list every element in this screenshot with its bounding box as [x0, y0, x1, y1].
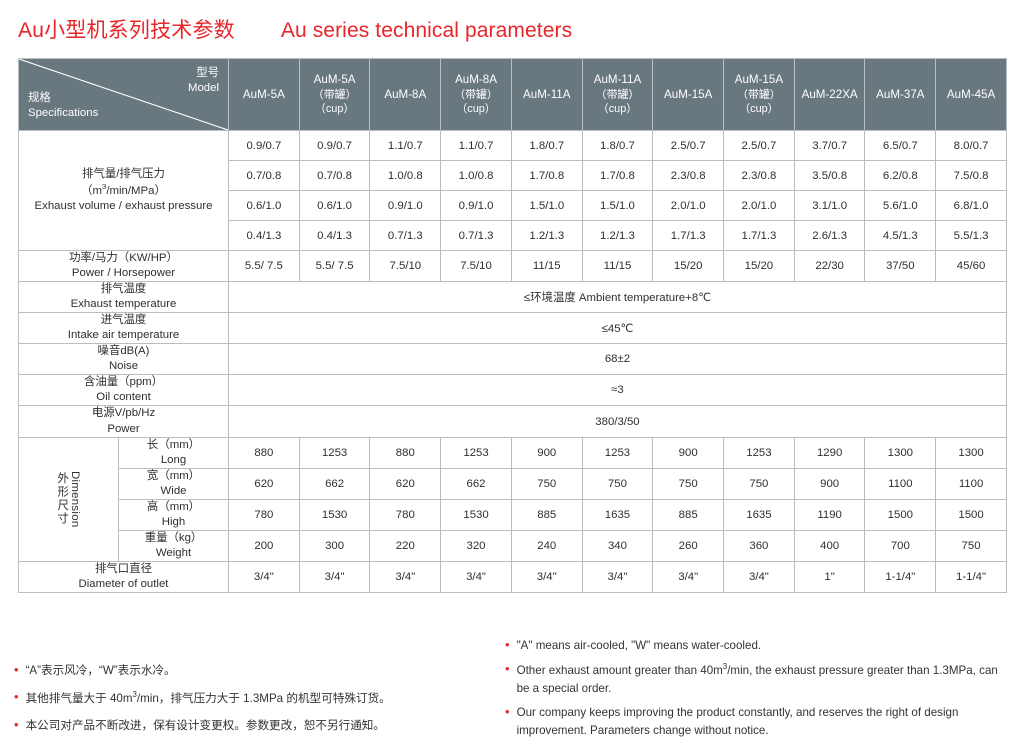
value-noise: 68±2 — [229, 344, 1007, 375]
header-model-label: 型号 Model — [188, 66, 219, 96]
dimension-long-cell: 1253 — [724, 437, 795, 468]
model-sub-cn: （带罐） — [724, 88, 794, 103]
exhaust-r4-cell: 4.5/1.3 — [865, 221, 936, 251]
exhaust-r1-cell: 3.7/0.7 — [794, 131, 865, 161]
dimension-long-cell: 900 — [653, 437, 724, 468]
power-cell: 5.5/ 7.5 — [299, 251, 370, 282]
dimension-weight-cell: 340 — [582, 530, 653, 561]
value-exhaust-temperature: ≤环境温度 Ambient temperature+8℃ — [229, 282, 1007, 313]
dimension-wide-cell: 900 — [794, 468, 865, 499]
model-sub-en: （cup） — [300, 102, 370, 117]
power-cell: 7.5/10 — [441, 251, 512, 282]
exhaust-r1-cell: 8.0/0.7 — [936, 131, 1007, 161]
exhaust-r2-cell: 1.7/0.8 — [582, 161, 653, 191]
header-model-aum-22xa: AuM-22XA — [794, 59, 865, 131]
table-row: 排气量/排气压力（m3/min/MPa）Exhaust volume / exh… — [19, 131, 1007, 161]
dimension-wide-cell: 750 — [511, 468, 582, 499]
outlet-cell: 3/4" — [582, 561, 653, 592]
exhaust-r2-cell: 0.7/0.8 — [229, 161, 300, 191]
model-name: AuM-8A — [441, 72, 511, 88]
exhaust-r2-cell: 0.7/0.8 — [299, 161, 370, 191]
footnote-cn-text: “A”表示风冷，“W”表示水冷。 — [26, 662, 494, 680]
outlet-cell: 1-1/4" — [936, 561, 1007, 592]
sub-label-en: High — [119, 515, 228, 530]
row-label-cn: 含油量（ppm） — [19, 375, 228, 390]
footnotes-chinese: •“A”表示风冷，“W”表示水冷。•其他排气量大于 40m3/min，排气压力大… — [14, 662, 494, 744]
exhaust-r4-cell: 0.7/1.3 — [370, 221, 441, 251]
sub-label-cn: 长（mm） — [119, 438, 228, 453]
exhaust-r3-cell: 0.9/1.0 — [441, 191, 512, 221]
dimension-high-cell: 780 — [370, 499, 441, 530]
row-label-oil-content: 含油量（ppm）Oil content — [19, 375, 229, 406]
value-oil-content: ≈3 — [229, 375, 1007, 406]
row-label-cn: 电源V/pb/Hz — [19, 406, 228, 421]
header-model-aum-37a: AuM-37A — [865, 59, 936, 131]
exhaust-r4-cell: 0.4/1.3 — [229, 221, 300, 251]
dimension-weight-cell: 260 — [653, 530, 724, 561]
table-row: 外形尺寸Dimension长（mm）Long880125388012539001… — [19, 437, 1007, 468]
power-cell: 11/15 — [582, 251, 653, 282]
footnote-cn-text: 其他排气量大于 40m3/min，排气压力大于 1.3MPa 的机型可特殊订货。 — [26, 689, 494, 708]
header-model-aum-11a: AuM-11A — [511, 59, 582, 131]
dimension-high-cell: 1635 — [724, 499, 795, 530]
bullet-icon: • — [505, 662, 510, 677]
exhaust-r2-cell: 7.5/0.8 — [936, 161, 1007, 191]
dimension-long-cell: 880 — [370, 437, 441, 468]
outlet-cell: 3/4" — [370, 561, 441, 592]
exhaust-r1-cell: 1.1/0.7 — [370, 131, 441, 161]
dimension-wide-cell: 662 — [299, 468, 370, 499]
model-name: AuM-11A — [512, 87, 582, 103]
dimension-long-cell: 900 — [511, 437, 582, 468]
header-model-cn: 型号 — [188, 66, 219, 81]
exhaust-r3-cell: 1.5/1.0 — [511, 191, 582, 221]
outlet-cell: 1" — [794, 561, 865, 592]
footnotes-english: •"A" means air-cooled, "W" means water-c… — [505, 637, 1010, 746]
dimension-long-cell: 880 — [229, 437, 300, 468]
power-cell: 22/30 — [794, 251, 865, 282]
table-row: 电源V/pb/HzPower380/3/50 — [19, 406, 1007, 437]
sub-label-en: Long — [119, 453, 228, 468]
exhaust-r2-cell: 3.5/0.8 — [794, 161, 865, 191]
row-label-cn: 功率/马力（KW/HP） — [19, 251, 228, 266]
outlet-cell: 3/4" — [441, 561, 512, 592]
row-label-en: Exhaust temperature — [19, 297, 228, 312]
power-cell: 5.5/ 7.5 — [229, 251, 300, 282]
dimension-high-cell: 1500 — [865, 499, 936, 530]
model-sub-en: （cup） — [724, 102, 794, 117]
dimension-long-cell: 1300 — [865, 437, 936, 468]
row-label-exhaust-temperature: 排气温度Exhaust temperature — [19, 282, 229, 313]
outlet-cell: 3/4" — [511, 561, 582, 592]
model-name: AuM-15A — [724, 72, 794, 88]
power-cell: 45/60 — [936, 251, 1007, 282]
dimension-high-cell: 1635 — [582, 499, 653, 530]
row-label-en: Power / Horsepower — [19, 266, 228, 281]
header-model-aum-5a: AuM-5A — [229, 59, 300, 131]
power-cell: 15/20 — [653, 251, 724, 282]
row-label-unit: （m3/min/MPa） — [19, 182, 228, 199]
spec-table-wrap: 规格 Specifications 型号 Model AuM-5AAuM-5A（… — [18, 58, 1006, 593]
exhaust-r1-cell: 1.1/0.7 — [441, 131, 512, 161]
exhaust-r4-cell: 1.2/1.3 — [511, 221, 582, 251]
exhaust-r3-cell: 0.6/1.0 — [229, 191, 300, 221]
footnote-cn-item: •“A”表示风冷，“W”表示水冷。 — [14, 662, 494, 680]
dimension-wide-cell: 750 — [582, 468, 653, 499]
page-title-cn: Au小型机系列技术参数 — [18, 14, 235, 44]
table-row: 重量（kg）Weight2003002203202403402603604007… — [19, 530, 1007, 561]
outlet-cell: 3/4" — [653, 561, 724, 592]
model-name: AuM-11A — [583, 72, 653, 88]
row-label-en: Oil content — [19, 390, 228, 405]
model-sub-cn: （带罐） — [441, 88, 511, 103]
sub-label-en: Wide — [119, 484, 228, 499]
table-row: 宽（mm）Wide6206626206627507507507509001100… — [19, 468, 1007, 499]
table-row: 排气口直径Diameter of outlet3/4"3/4"3/4"3/4"3… — [19, 561, 1007, 592]
header-model-aum-11a-cup: AuM-11A（带罐）（cup） — [582, 59, 653, 131]
outlet-cell: 3/4" — [229, 561, 300, 592]
spec-table: 规格 Specifications 型号 Model AuM-5AAuM-5A（… — [18, 58, 1007, 593]
exhaust-r4-cell: 1.7/1.3 — [724, 221, 795, 251]
outlet-cell: 3/4" — [299, 561, 370, 592]
page-root: Au小型机系列技术参数 Au series technical paramete… — [0, 0, 1024, 751]
dimension-wide-cell: 662 — [441, 468, 512, 499]
row-label-en: Noise — [19, 359, 228, 374]
exhaust-r3-cell: 1.5/1.0 — [582, 191, 653, 221]
footnote-en-item: •"A" means air-cooled, "W" means water-c… — [505, 637, 1010, 655]
header-model-aum-15a: AuM-15A — [653, 59, 724, 131]
page-title-en: Au series technical parameters — [281, 19, 572, 43]
dimension-weight-cell: 400 — [794, 530, 865, 561]
exhaust-r2-cell: 2.3/0.8 — [653, 161, 724, 191]
model-name: AuM-5A — [300, 72, 370, 88]
dimension-label-en: Dimension — [69, 471, 81, 528]
header-model-aum-15a-cup: AuM-15A（带罐）（cup） — [724, 59, 795, 131]
dimension-weight-cell: 300 — [299, 530, 370, 561]
dimension-high-cell: 885 — [653, 499, 724, 530]
table-header-row: 规格 Specifications 型号 Model AuM-5AAuM-5A（… — [19, 59, 1007, 131]
model-name: AuM-8A — [370, 87, 440, 103]
exhaust-r3-cell: 5.6/1.0 — [865, 191, 936, 221]
exhaust-r2-cell: 6.2/0.8 — [865, 161, 936, 191]
dimension-wide-cell: 620 — [229, 468, 300, 499]
header-model-aum-8a: AuM-8A — [370, 59, 441, 131]
header-spec-en: Specifications — [28, 106, 98, 121]
header-spec-cn: 规格 — [28, 91, 98, 106]
dimension-high-cell: 1500 — [936, 499, 1007, 530]
row-label-cn: 排气量/排气压力 — [19, 167, 228, 182]
row-label-cn: 排气口直径 — [19, 562, 228, 577]
exhaust-r1-cell: 0.9/0.7 — [299, 131, 370, 161]
row-label-dimension: 外形尺寸Dimension — [19, 437, 119, 561]
outlet-cell: 1-1/4" — [865, 561, 936, 592]
dimension-long-cell: 1253 — [441, 437, 512, 468]
bullet-icon: • — [505, 638, 510, 653]
exhaust-r3-cell: 3.1/1.0 — [794, 191, 865, 221]
exhaust-r1-cell: 1.8/0.7 — [582, 131, 653, 161]
power-cell: 15/20 — [724, 251, 795, 282]
exhaust-r1-cell: 6.5/0.7 — [865, 131, 936, 161]
dimension-weight-cell: 750 — [936, 530, 1007, 561]
exhaust-r3-cell: 2.0/1.0 — [653, 191, 724, 221]
footnote-en-text: Our company keeps improving the product … — [517, 704, 1010, 740]
row-label-exhaust: 排气量/排气压力（m3/min/MPa）Exhaust volume / exh… — [19, 131, 229, 251]
footnote-en-text: Other exhaust amount greater than 40m3/m… — [517, 661, 1010, 698]
row-label-noise: 噪音dB(A)Noise — [19, 344, 229, 375]
header-model-en: Model — [188, 81, 219, 96]
dimension-weight-cell: 200 — [229, 530, 300, 561]
exhaust-r4-cell: 1.2/1.3 — [582, 221, 653, 251]
dimension-long-cell: 1300 — [936, 437, 1007, 468]
exhaust-r2-cell: 2.3/0.8 — [724, 161, 795, 191]
row-label-en: Exhaust volume / exhaust pressure — [19, 199, 228, 214]
power-cell: 7.5/10 — [370, 251, 441, 282]
page-title: Au小型机系列技术参数 Au series technical paramete… — [18, 14, 572, 44]
row-label-power: 功率/马力（KW/HP）Power / Horsepower — [19, 251, 229, 282]
model-sub-cn: （带罐） — [583, 88, 653, 103]
dimension-weight-cell: 700 — [865, 530, 936, 561]
exhaust-r4-cell: 1.7/1.3 — [653, 221, 724, 251]
row-label-intake-air-temperature: 进气温度Intake air temperature — [19, 313, 229, 344]
row-label-cn: 进气温度 — [19, 313, 228, 328]
dimension-long-cell: 1253 — [299, 437, 370, 468]
dimension-weight-cell: 320 — [441, 530, 512, 561]
dimension-sub-weight: 重量（kg）Weight — [119, 530, 229, 561]
exhaust-r4-cell: 2.6/1.3 — [794, 221, 865, 251]
table-row: 高（mm）High7801530780153088516358851635119… — [19, 499, 1007, 530]
footnote-cn-text: 本公司对产品不断改进，保有设计变更权。参数更改，恕不另行通知。 — [26, 717, 494, 735]
exhaust-r3-cell: 6.8/1.0 — [936, 191, 1007, 221]
exhaust-r3-cell: 0.6/1.0 — [299, 191, 370, 221]
value-power: 380/3/50 — [229, 406, 1007, 437]
footnote-cn-item: •本公司对产品不断改进，保有设计变更权。参数更改，恕不另行通知。 — [14, 717, 494, 735]
footnote-cn-item: •其他排气量大于 40m3/min，排气压力大于 1.3MPa 的机型可特殊订货… — [14, 689, 494, 708]
dimension-wide-cell: 750 — [724, 468, 795, 499]
dimension-long-cell: 1253 — [582, 437, 653, 468]
row-label-power: 电源V/pb/HzPower — [19, 406, 229, 437]
dimension-high-cell: 1530 — [441, 499, 512, 530]
model-sub-cn: （带罐） — [300, 88, 370, 103]
dimension-weight-cell: 240 — [511, 530, 582, 561]
exhaust-r3-cell: 2.0/1.0 — [724, 191, 795, 221]
bullet-icon: • — [14, 663, 19, 678]
exhaust-r1-cell: 1.8/0.7 — [511, 131, 582, 161]
exhaust-r1-cell: 2.5/0.7 — [724, 131, 795, 161]
exhaust-r4-cell: 5.5/1.3 — [936, 221, 1007, 251]
sub-label-cn: 高（mm） — [119, 500, 228, 515]
exhaust-r1-cell: 2.5/0.7 — [653, 131, 724, 161]
exhaust-r4-cell: 0.4/1.3 — [299, 221, 370, 251]
outlet-cell: 3/4" — [724, 561, 795, 592]
header-model-aum-5a-cup: AuM-5A（带罐）（cup） — [299, 59, 370, 131]
dimension-wide-cell: 620 — [370, 468, 441, 499]
dimension-high-cell: 1190 — [794, 499, 865, 530]
exhaust-r1-cell: 0.9/0.7 — [229, 131, 300, 161]
header-model-aum-8a-cup: AuM-8A（带罐）（cup） — [441, 59, 512, 131]
header-specifications-label: 规格 Specifications — [28, 91, 98, 121]
header-model-aum-45a: AuM-45A — [936, 59, 1007, 131]
exhaust-r2-cell: 1.7/0.8 — [511, 161, 582, 191]
exhaust-r2-cell: 1.0/0.8 — [370, 161, 441, 191]
table-row: 排气温度Exhaust temperature≤环境温度 Ambient tem… — [19, 282, 1007, 313]
table-row: 进气温度Intake air temperature≤45℃ — [19, 313, 1007, 344]
dimension-wide-cell: 1100 — [865, 468, 936, 499]
value-intake-air-temperature: ≤45℃ — [229, 313, 1007, 344]
model-sub-en: （cup） — [441, 102, 511, 117]
row-label-outlet: 排气口直径Diameter of outlet — [19, 561, 229, 592]
model-name: AuM-5A — [229, 87, 299, 103]
model-name: AuM-37A — [865, 87, 935, 103]
bullet-icon: • — [505, 705, 510, 720]
dimension-high-cell: 780 — [229, 499, 300, 530]
dimension-weight-cell: 220 — [370, 530, 441, 561]
exhaust-r2-cell: 1.0/0.8 — [441, 161, 512, 191]
dimension-label-cn: 外形尺寸 — [56, 472, 67, 526]
model-name: AuM-22XA — [795, 87, 865, 103]
dimension-sub-long: 长（mm）Long — [119, 437, 229, 468]
dimension-sub-wide: 宽（mm）Wide — [119, 468, 229, 499]
sub-label-en: Weight — [119, 546, 228, 561]
dimension-weight-cell: 360 — [724, 530, 795, 561]
footnote-en-text: "A" means air-cooled, "W" means water-co… — [517, 637, 1010, 655]
power-cell: 11/15 — [511, 251, 582, 282]
exhaust-r4-cell: 0.7/1.3 — [441, 221, 512, 251]
exhaust-r3-cell: 0.9/1.0 — [370, 191, 441, 221]
power-cell: 37/50 — [865, 251, 936, 282]
table-row: 含油量（ppm）Oil content≈3 — [19, 375, 1007, 406]
header-corner-cell: 规格 Specifications 型号 Model — [19, 59, 229, 131]
table-row: 噪音dB(A)Noise68±2 — [19, 344, 1007, 375]
dimension-wide-cell: 750 — [653, 468, 724, 499]
row-label-cn: 排气温度 — [19, 282, 228, 297]
table-row: 功率/马力（KW/HP）Power / Horsepower5.5/ 7.55.… — [19, 251, 1007, 282]
sub-label-cn: 宽（mm） — [119, 469, 228, 484]
bullet-icon: • — [14, 690, 19, 705]
model-name: AuM-15A — [653, 87, 723, 103]
dimension-long-cell: 1290 — [794, 437, 865, 468]
row-label-en: Diameter of outlet — [19, 577, 228, 592]
footnote-en-item: •Other exhaust amount greater than 40m3/… — [505, 661, 1010, 698]
row-label-cn: 噪音dB(A) — [19, 344, 228, 359]
dimension-high-cell: 1530 — [299, 499, 370, 530]
dimension-sub-high: 高（mm）High — [119, 499, 229, 530]
bullet-icon: • — [14, 718, 19, 733]
row-label-en: Power — [19, 422, 228, 437]
model-name: AuM-45A — [936, 87, 1006, 103]
sub-label-cn: 重量（kg） — [119, 531, 228, 546]
footnote-en-item: •Our company keeps improving the product… — [505, 704, 1010, 740]
model-sub-en: （cup） — [583, 102, 653, 117]
row-label-en: Intake air temperature — [19, 328, 228, 343]
dimension-wide-cell: 1100 — [936, 468, 1007, 499]
dimension-high-cell: 885 — [511, 499, 582, 530]
